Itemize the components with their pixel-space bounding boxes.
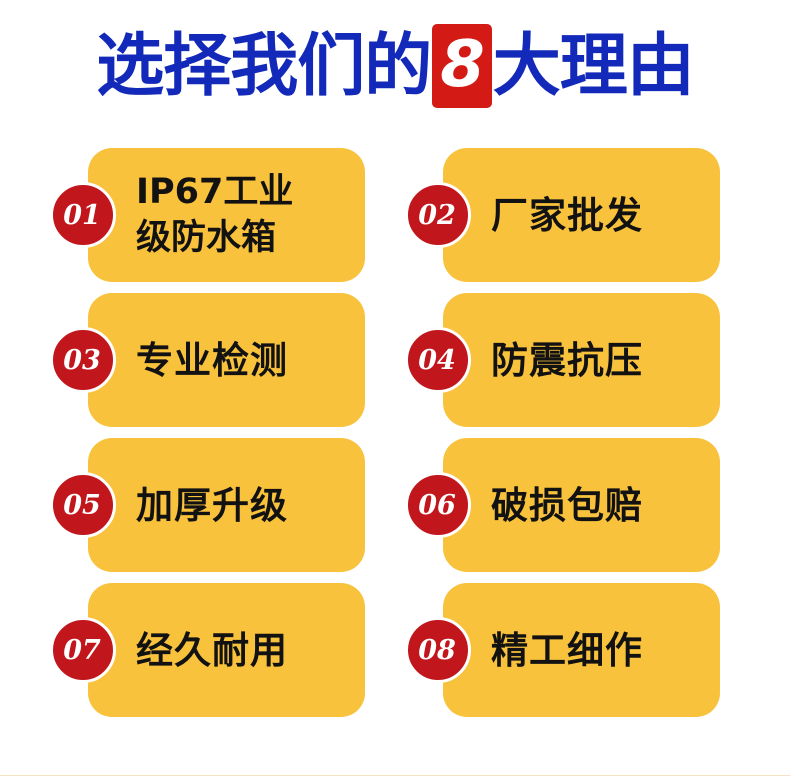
reason-badge-01: 01 xyxy=(50,182,116,248)
reason-number-label: 01 xyxy=(63,202,103,229)
reasons-grid: 01 IP67工业 级防水箱 02 厂家批发 03 专业检测 04 xyxy=(0,148,790,717)
title-number-badge: 8 xyxy=(432,24,492,108)
reason-card-01[interactable]: 01 IP67工业 级防水箱 xyxy=(88,148,365,282)
reason-number-label: 08 xyxy=(418,637,458,664)
reasons-row-3: 05 加厚升级 06 破损包赔 xyxy=(0,438,790,572)
reason-text-07: 经久耐用 xyxy=(136,583,357,717)
reason-number-label: 06 xyxy=(418,492,458,519)
reason-text-02: 厂家批发 xyxy=(491,148,712,282)
promo-poster: 选择我们的8大理由 01 IP67工业 级防水箱 02 厂家批发 03 xyxy=(0,0,790,778)
page-title: 选择我们的8大理由 xyxy=(0,20,790,112)
reason-card-03[interactable]: 03 专业检测 xyxy=(88,293,365,427)
reason-number-label: 07 xyxy=(63,637,103,664)
reason-card-07[interactable]: 07 经久耐用 xyxy=(88,583,365,717)
reason-badge-02: 02 xyxy=(405,182,471,248)
title-text: 选择我们的8大理由 xyxy=(96,23,694,108)
reason-badge-03: 03 xyxy=(50,327,116,393)
reasons-row-2: 03 专业检测 04 防震抗压 xyxy=(0,293,790,427)
reason-text-06: 破损包赔 xyxy=(491,438,712,572)
reason-badge-06: 06 xyxy=(405,472,471,538)
reason-card-04[interactable]: 04 防震抗压 xyxy=(443,293,720,427)
reason-card-06[interactable]: 06 破损包赔 xyxy=(443,438,720,572)
title-prefix: 选择我们的 xyxy=(96,27,431,107)
reason-number-label: 05 xyxy=(63,492,103,519)
reason-card-08[interactable]: 08 精工细作 xyxy=(443,583,720,717)
reason-badge-05: 05 xyxy=(50,472,116,538)
reason-badge-07: 07 xyxy=(50,617,116,683)
reason-text-04: 防震抗压 xyxy=(491,293,712,427)
reason-card-02[interactable]: 02 厂家批发 xyxy=(443,148,720,282)
reason-badge-08: 08 xyxy=(405,617,471,683)
reason-text-03: 专业检测 xyxy=(136,293,357,427)
bottom-divider xyxy=(0,775,790,776)
reason-card-05[interactable]: 05 加厚升级 xyxy=(88,438,365,572)
reason-text-08: 精工细作 xyxy=(491,583,712,717)
reason-text-01: IP67工业 级防水箱 xyxy=(136,148,357,282)
reason-number-label: 03 xyxy=(63,347,103,374)
reason-number-label: 04 xyxy=(418,347,458,374)
reason-badge-04: 04 xyxy=(405,327,471,393)
reasons-row-1: 01 IP67工业 级防水箱 02 厂家批发 xyxy=(0,148,790,282)
title-suffix: 大理由 xyxy=(493,27,694,107)
reason-text-05: 加厚升级 xyxy=(136,438,357,572)
reasons-row-4: 07 经久耐用 08 精工细作 xyxy=(0,583,790,717)
reason-number-label: 02 xyxy=(418,202,458,229)
